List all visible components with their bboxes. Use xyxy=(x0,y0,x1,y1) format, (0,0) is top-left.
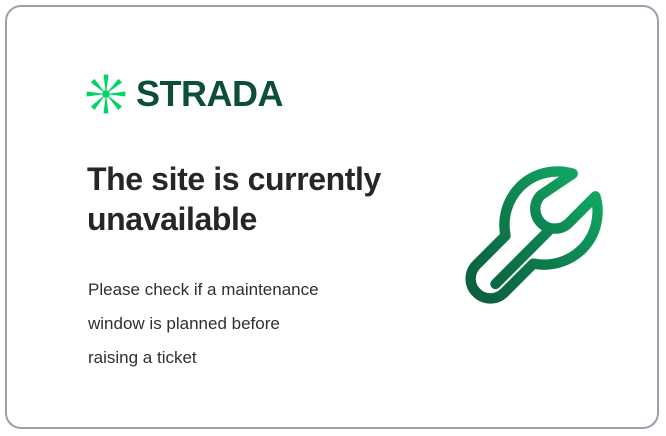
page-description: Please check if a maintenance window is … xyxy=(88,273,408,375)
brand-wordmark: STRADA xyxy=(136,76,283,112)
description-line: window is planned before xyxy=(88,307,408,341)
status-page-card: STRADA The site is currently unavailable… xyxy=(5,5,659,429)
description-line: raising a ticket xyxy=(88,341,408,375)
description-line: Please check if a maintenance xyxy=(88,273,408,307)
asterisk-star-icon xyxy=(85,73,127,115)
brand-logo: STRADA xyxy=(85,73,283,115)
wrench-icon xyxy=(459,155,621,319)
page-title: The site is currently unavailable xyxy=(87,159,427,240)
